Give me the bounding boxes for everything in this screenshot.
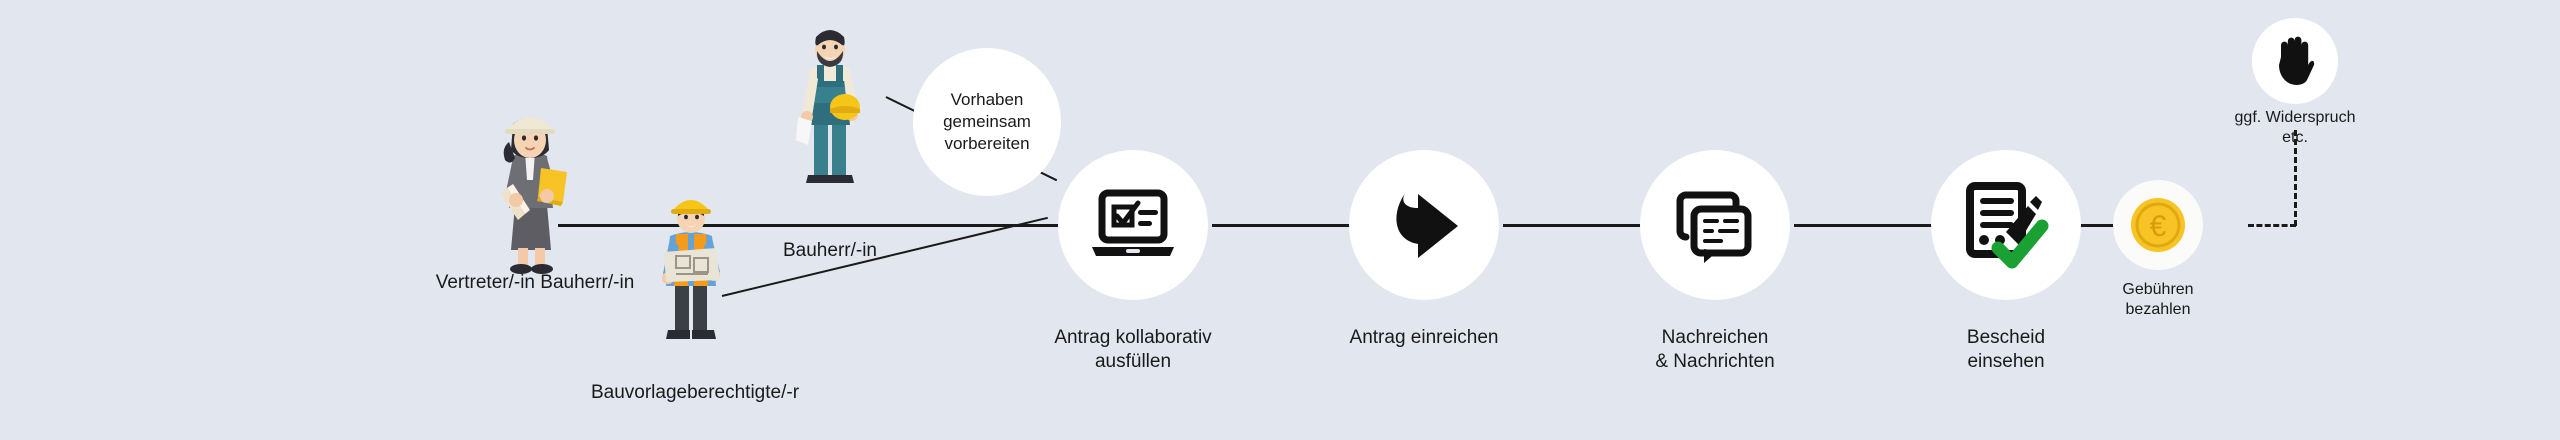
process-diagram: Vertreter/-in Bauherr/-in — [0, 0, 2560, 440]
side-node-gebuehren[interactable]: € — [2113, 180, 2203, 270]
man-overalls-figure — [790, 25, 870, 190]
step-label-bescheid: Bescheid einsehen — [1856, 326, 2156, 374]
actor-label-vertreter: Vertreter/-in Bauherr/-in — [385, 272, 685, 294]
chat-bubbles-icon — [1674, 185, 1756, 265]
side-node-widerspruch[interactable] — [2252, 18, 2338, 104]
actor-label-bauherr: Bauherr/-in — [700, 240, 960, 262]
stop-hand-icon — [2271, 35, 2319, 87]
timeline-segment-3 — [1794, 224, 1939, 227]
side-label-gebuehren: Gebühren bezahlen — [2083, 280, 2233, 320]
timeline-segment-1 — [1212, 224, 1357, 227]
timeline-segment-start — [558, 224, 1058, 227]
step-label-nachreichen: Nachreichen & Nachrichten — [1565, 326, 1865, 374]
dashed-connector-horizontal — [2248, 224, 2296, 227]
step-node-antrag-einreichen[interactable] — [1349, 150, 1499, 300]
step-node-bescheid[interactable] — [1931, 150, 2081, 300]
timeline-segment-2 — [1503, 224, 1648, 227]
laptop-checklist-icon — [1090, 190, 1176, 260]
step-label-antrag-einreichen: Antrag einreichen — [1274, 326, 1574, 350]
side-label-widerspruch: ggf. Widerspruch etc. — [2200, 108, 2390, 148]
curved-arrow-right-icon — [1384, 186, 1464, 264]
document-pencil-check-icon — [1962, 182, 2050, 268]
actor-label-bauvorlage: Bauvorlageberechtigte/-r — [545, 382, 845, 404]
bubble-vorhaben-vorbereiten: Vorhaben gemeinsam vorbereiten — [913, 48, 1061, 196]
step-node-antrag-ausfuellen[interactable] — [1058, 150, 1208, 300]
bubble-vorhaben-text: Vorhaben gemeinsam vorbereiten — [943, 89, 1031, 155]
woman-architect-figure — [485, 110, 575, 275]
svg-text:€: € — [2150, 210, 2167, 243]
man-blueprint-figure — [650, 200, 732, 350]
step-label-antrag-ausfuellen: Antrag kollaborativ ausfüllen — [983, 326, 1283, 374]
euro-coin-icon: € — [2129, 196, 2187, 254]
step-node-nachreichen[interactable] — [1640, 150, 1790, 300]
